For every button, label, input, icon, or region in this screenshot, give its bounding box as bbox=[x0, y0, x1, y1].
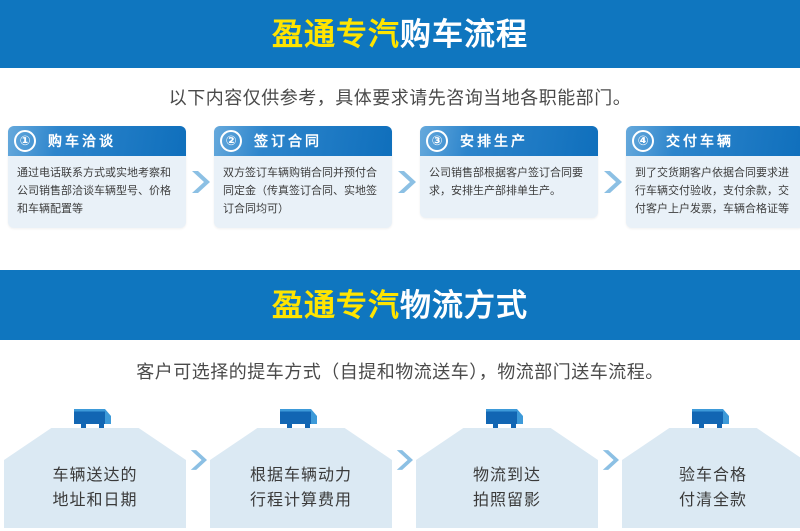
logistics-step-line1-1: 车辆送达的 bbox=[4, 464, 186, 489]
chevron-right-icon-5 bbox=[392, 406, 416, 528]
purchase-step-header-3: ③ 安排生产 bbox=[420, 126, 598, 156]
purchase-step-card-2[interactable]: ② 签订合同 双方签订车辆购销合同并预付合同定金（传真签订合同、实地签订合同均可… bbox=[214, 126, 392, 228]
chevron-right-icon-1 bbox=[186, 126, 214, 238]
purchase-step-card-1[interactable]: ① 购车洽谈 通过电话联系方式或实地考察和公司销售部洽谈车辆型号、价格和车辆配置… bbox=[8, 126, 186, 228]
logistics-step-line1-2: 根据车辆动力 bbox=[210, 464, 392, 489]
purchase-banner-subtitle-text: 购车流程 bbox=[400, 17, 528, 52]
logistics-subtitle: 客户可选择的提车方式（自提和物流送车），物流部门送车流程。 bbox=[136, 358, 664, 384]
chevron-right-icon-2 bbox=[392, 126, 420, 238]
logistics-step-card-3[interactable]: 物流到达 拍照留影 bbox=[416, 406, 598, 528]
purchase-step-title-3: 安排生产 bbox=[460, 131, 528, 151]
purchase-step-body-1: 通过电话联系方式或实地考察和公司销售部洽谈车辆型号、价格和车辆配置等 bbox=[8, 156, 186, 228]
logistics-steps-row: 车辆送达的 地址和日期 根据车辆动力 行程计算费用 bbox=[0, 402, 800, 528]
logistics-step-line2-3: 拍照留影 bbox=[416, 489, 598, 514]
step-number-badge-1: ① bbox=[14, 130, 36, 152]
logistics-banner-subtitle-text: 物流方式 bbox=[400, 288, 528, 323]
purchase-subtitle-wrap: 以下内容仅供参考，具体要求请先咨询当地各职能部门。 bbox=[0, 68, 800, 126]
brand-name-purchase: 盈通专汽 bbox=[272, 17, 400, 52]
purchase-step-body-4: 到了交货期客户依据合同要求进行车辆交付验收，支付余款，交付客户上户发票，车辆合格… bbox=[626, 156, 800, 228]
logistics-step-label-1: 车辆送达的 地址和日期 bbox=[4, 464, 186, 514]
logistics-step-line1-4: 验车合格 bbox=[622, 464, 800, 489]
logistics-subtitle-wrap: 客户可选择的提车方式（自提和物流送车），物流部门送车流程。 bbox=[0, 340, 800, 402]
purchase-banner-title: 盈通专汽购车流程 bbox=[272, 19, 528, 50]
purchase-steps-row: ① 购车洽谈 通过电话联系方式或实地考察和公司销售部洽谈车辆型号、价格和车辆配置… bbox=[0, 126, 800, 238]
purchase-step-title-4: 交付车辆 bbox=[666, 131, 734, 151]
purchase-step-card-3[interactable]: ③ 安排生产 公司销售部根据客户签订合同要求，安排生产部排单生产。 bbox=[420, 126, 598, 218]
purchase-step-body-2: 双方签订车辆购销合同并预付合同定金（传真签订合同、实地签订合同均可） bbox=[214, 156, 392, 228]
purchase-banner: 盈通专汽购车流程 bbox=[0, 0, 800, 68]
purchase-subtitle: 以下内容仅供参考，具体要求请先咨询当地各职能部门。 bbox=[169, 84, 632, 110]
purchase-step-title-1: 购车洽谈 bbox=[48, 131, 116, 151]
logistics-step-line2-4: 付清全款 bbox=[622, 489, 800, 514]
logistics-step-card-4[interactable]: 验车合格 付清全款 bbox=[622, 406, 800, 528]
chevron-right-icon-6 bbox=[598, 406, 622, 528]
purchase-step-card-4[interactable]: ④ 交付车辆 到了交货期客户依据合同要求进行车辆交付验收，支付余款，交付客户上户… bbox=[626, 126, 800, 228]
section-divider bbox=[0, 238, 800, 270]
logistics-step-line1-3: 物流到达 bbox=[416, 464, 598, 489]
chevron-right-icon-3 bbox=[598, 126, 626, 238]
logistics-step-label-4: 验车合格 付清全款 bbox=[622, 464, 800, 514]
purchase-step-header-2: ② 签订合同 bbox=[214, 126, 392, 156]
logistics-step-card-2[interactable]: 根据车辆动力 行程计算费用 bbox=[210, 406, 392, 528]
purchase-step-title-2: 签订合同 bbox=[254, 131, 322, 151]
logistics-step-label-2: 根据车辆动力 行程计算费用 bbox=[210, 464, 392, 514]
logistics-banner: 盈通专汽物流方式 bbox=[0, 270, 800, 340]
step-number-badge-3: ③ bbox=[426, 130, 448, 152]
step-number-badge-2: ② bbox=[220, 130, 242, 152]
logistics-banner-title: 盈通专汽物流方式 bbox=[272, 290, 528, 321]
purchase-step-header-4: ④ 交付车辆 bbox=[626, 126, 800, 156]
purchase-step-body-3: 公司销售部根据客户签订合同要求，安排生产部排单生产。 bbox=[420, 156, 598, 218]
logistics-step-line2-2: 行程计算费用 bbox=[210, 489, 392, 514]
purchase-step-header-1: ① 购车洽谈 bbox=[8, 126, 186, 156]
logistics-step-card-1[interactable]: 车辆送达的 地址和日期 bbox=[4, 406, 186, 528]
logistics-step-line2-1: 地址和日期 bbox=[4, 489, 186, 514]
brand-name-logistics: 盈通专汽 bbox=[272, 288, 400, 323]
logistics-step-label-3: 物流到达 拍照留影 bbox=[416, 464, 598, 514]
step-number-badge-4: ④ bbox=[632, 130, 654, 152]
chevron-right-icon-4 bbox=[186, 406, 210, 528]
